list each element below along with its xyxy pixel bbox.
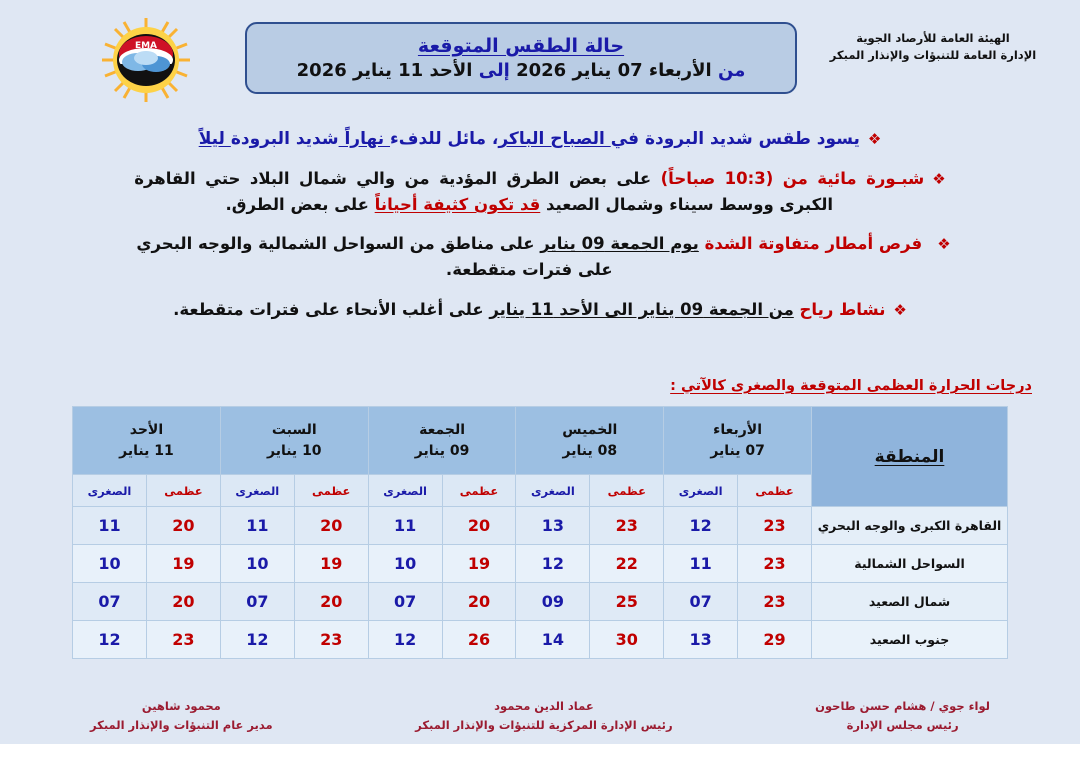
bullet-marker-icon: ❖ (932, 166, 945, 191)
bullet-2-segment-4: قد تكون كثيفة أحياناً (375, 195, 541, 214)
day-name: الأحد (74, 420, 219, 441)
table-subheader-max-3: عظمى (442, 475, 516, 507)
table-cell-max-r2-d5: 19 (146, 545, 220, 583)
bullet-3-segment-1: فرص أمطار متفاوتة الشدة (699, 234, 922, 253)
list-item: ❖ شبـورة مائية من (10:3 صباحاً) على بعض … (24, 166, 1056, 217)
ema-logo: EMA (86, 14, 206, 106)
signature-name: لواء جوي / هشام حسن طاحون (815, 697, 990, 715)
table-cell-min-r3-d3: 07 (368, 583, 442, 621)
table-subheader-min-3: الصغرى (368, 475, 442, 507)
table-cell-max-r4-d4: 23 (294, 621, 368, 659)
table-cell-min-r1-d5: 11 (73, 507, 147, 545)
table-cell-max-r4-d5: 23 (146, 621, 220, 659)
signature-block: عماد الدين محمود رئيس الإدارة المركزية ل… (415, 697, 672, 734)
bullet-2-segment-1: شبـورة مائية من (773, 169, 924, 188)
bullet-1-segment-5: شديد البرودة (231, 129, 339, 149)
bullet-2-segment-5: على بعض الطرق. (226, 195, 375, 214)
table-cell-min-r4-d2: 14 (516, 621, 590, 659)
day-name: الخميس (517, 420, 662, 441)
table-cell-max-r3-d2: 25 (590, 583, 664, 621)
table-cell-max-r4-d3: 26 (442, 621, 516, 659)
table-header-row-days: المنطقةالأربعاء07 ينايرالخميس08 ينايرالج… (73, 407, 1008, 475)
list-item: ❖ فرص أمطار متفاوتة الشدة يوم الجمعة 09 … (24, 231, 1056, 282)
bullet-text-2: شبـورة مائية من (10:3 صباحاً) على بعض ال… (134, 166, 924, 217)
table-cell-min-r3-d5: 07 (73, 583, 147, 621)
signature-name: عماد الدين محمود (415, 697, 672, 715)
bullet-3-segment-2: يوم الجمعة 09 يناير (540, 234, 699, 253)
table-cell-max-r2-d2: 22 (590, 545, 664, 583)
table-subheader-max-5: عظمى (146, 475, 220, 507)
signature-footer: لواء جوي / هشام حسن طاحون رئيس مجلس الإد… (0, 697, 1080, 734)
table-cell-region: السواحل الشمالية (812, 545, 1008, 583)
bullet-4-segment-1: نشاط رياح (794, 300, 886, 319)
bullet-marker-icon: ❖ (937, 231, 950, 256)
bullet-marker-icon: ❖ (868, 126, 881, 151)
table-cell-min-r3-d2: 09 (516, 583, 590, 621)
table-cell-max-r2-d4: 19 (294, 545, 368, 583)
bullet-1-segment-3: ، مائل للدفء (390, 129, 498, 149)
authority-name: الهيئة العامة للأرصاد الجوية (808, 30, 1058, 47)
table-cell-max-r3-d4: 20 (294, 583, 368, 621)
table-header-region: المنطقة (812, 407, 1008, 507)
table-header-day-5: الأحد11 يناير (73, 407, 221, 475)
table-cell-min-r2-d2: 12 (516, 545, 590, 583)
signature-role: رئيس مجلس الإدارة (815, 716, 990, 734)
table-cell-min-r2-d5: 10 (73, 545, 147, 583)
temperature-table-caption: درجات الحرارة العظمى المتوقعة والصغرى كا… (670, 378, 1032, 394)
bullet-1-segment-2: الصباح الباكر (498, 129, 610, 149)
bullet-4-segment-3: على أغلب الأنحاء على فترات متقطعة. (173, 300, 489, 319)
signature-block: محمود شاهين مدير عام التنبؤات والإنذار ا… (90, 697, 273, 734)
table-cell-min-r4-d5: 12 (73, 621, 147, 659)
table-cell-max-r3-d3: 20 (442, 583, 516, 621)
day-date: 09 يناير (370, 441, 515, 462)
table-subheader-min-2: الصغرى (516, 475, 590, 507)
bullet-2-segment-2: (10:3 صباحاً) (661, 169, 774, 188)
table-cell-region: شمال الصعيد (812, 583, 1008, 621)
bullet-1-segment-6: ليلاً (199, 129, 231, 149)
table-header-day-1: الأربعاء07 يناير (664, 407, 812, 475)
table-cell-region: القاهرة الكبرى والوجه البحري (812, 507, 1008, 545)
range-end: الأحد 11 يناير 2026 (297, 60, 473, 81)
table-subheader-max-2: عظمى (590, 475, 664, 507)
table-cell-min-r1-d4: 11 (220, 507, 294, 545)
signature-role: مدير عام التنبؤات والإنذار المبكر (90, 716, 273, 734)
bullet-text-1: يسود طقس شديد البرودة في الصباح الباكر، … (199, 126, 860, 152)
table-cell-min-r4-d1: 13 (664, 621, 738, 659)
table-cell-min-r4-d4: 12 (220, 621, 294, 659)
signature-role: رئيس الإدارة المركزية للتنبؤات والإنذار … (415, 716, 672, 734)
bullet-marker-icon: ❖ (893, 297, 906, 322)
table-row: جنوب الصعيد29133014261223122312 (73, 621, 1008, 659)
day-date: 08 يناير (517, 441, 662, 462)
table-head: المنطقةالأربعاء07 ينايرالخميس08 ينايرالج… (73, 407, 1008, 507)
range-mid: إلى (479, 60, 510, 81)
temperature-table: المنطقةالأربعاء07 ينايرالخميس08 ينايرالج… (72, 406, 1008, 659)
bullet-text-4: نشاط رياح من الجمعة 09 يناير الى الأحد 1… (173, 297, 885, 323)
bullet-1-segment-1: يسود طقس شديد البرودة في (611, 129, 860, 149)
table-cell-max-r4-d1: 29 (738, 621, 812, 659)
table-row: شمال الصعيد23072509200720072007 (73, 583, 1008, 621)
bullet-1-segment-4: نهاراً (339, 129, 390, 149)
authority-block: الهيئة العامة للأرصاد الجوية الإدارة الع… (808, 30, 1058, 63)
signature-name: محمود شاهين (90, 697, 273, 715)
forecast-date-range: من الأربعاء 07 يناير 2026 إلى الأحد 11 ي… (297, 60, 746, 81)
weather-forecast-page: EMA حالة الطقس المتوقعة من الأربعاء 07 ي… (0, 0, 1080, 762)
page-title: حالة الطقس المتوقعة (418, 35, 624, 57)
table-cell-min-r2-d3: 10 (368, 545, 442, 583)
table-body: القاهرة الكبرى والوجه البحري231223132011… (73, 507, 1008, 659)
table-cell-max-r1-d3: 20 (442, 507, 516, 545)
list-item: ❖ يسود طقس شديد البرودة في الصباح الباكر… (24, 126, 1056, 152)
table-cell-min-r3-d1: 07 (664, 583, 738, 621)
day-date: 07 يناير (665, 441, 810, 462)
table-cell-min-r2-d4: 10 (220, 545, 294, 583)
table-subheader-min-5: الصغرى (73, 475, 147, 507)
table-cell-min-r4-d3: 12 (368, 621, 442, 659)
range-prefix: من (718, 60, 745, 81)
day-name: الجمعة (370, 420, 515, 441)
table-subheader-max-4: عظمى (294, 475, 368, 507)
table-cell-max-r1-d1: 23 (738, 507, 812, 545)
table-cell-min-r2-d1: 11 (664, 545, 738, 583)
day-name: الأربعاء (665, 420, 810, 441)
table-cell-min-r1-d3: 11 (368, 507, 442, 545)
table-cell-max-r1-d2: 23 (590, 507, 664, 545)
list-item: ❖ نشاط رياح من الجمعة 09 يناير الى الأحد… (24, 297, 1056, 323)
table-cell-max-r2-d3: 19 (442, 545, 516, 583)
table-row: السواحل الشمالية23112212191019101910 (73, 545, 1008, 583)
table-cell-min-r1-d2: 13 (516, 507, 590, 545)
table-cell-min-r3-d4: 07 (220, 583, 294, 621)
table-subheader-min-1: الصغرى (664, 475, 738, 507)
table-cell-max-r4-d2: 30 (590, 621, 664, 659)
table-row: القاهرة الكبرى والوجه البحري231223132011… (73, 507, 1008, 545)
table-cell-min-r1-d1: 12 (664, 507, 738, 545)
table-header-day-4: السبت10 يناير (220, 407, 368, 475)
day-date: 11 يناير (74, 441, 219, 462)
table-cell-max-r2-d1: 23 (738, 545, 812, 583)
forecast-title-box: حالة الطقس المتوقعة من الأربعاء 07 يناير… (245, 22, 797, 94)
logo-text: EMA (135, 41, 157, 51)
range-start: الأربعاء 07 يناير 2026 (516, 60, 712, 81)
day-name: السبت (222, 420, 367, 441)
table-cell-max-r3-d1: 23 (738, 583, 812, 621)
page-header: EMA حالة الطقس المتوقعة من الأربعاء 07 ي… (0, 0, 1080, 118)
table-cell-max-r3-d5: 20 (146, 583, 220, 621)
table-cell-max-r1-d4: 20 (294, 507, 368, 545)
table-subheader-max-1: عظمى (738, 475, 812, 507)
temperature-table-wrapper: المنطقةالأربعاء07 ينايرالخميس08 ينايرالج… (72, 406, 1008, 659)
forecast-summary-list: ❖ يسود طقس شديد البرودة في الصباح الباكر… (0, 126, 1080, 336)
bullet-4-segment-2: من الجمعة 09 يناير الى الأحد 11 يناير (489, 300, 793, 319)
table-cell-max-r1-d5: 20 (146, 507, 220, 545)
signature-block: لواء جوي / هشام حسن طاحون رئيس مجلس الإد… (815, 697, 990, 734)
table-header-day-2: الخميس08 يناير (516, 407, 664, 475)
bullet-text-3: فرص أمطار متفاوتة الشدة يوم الجمعة 09 ين… (129, 231, 929, 282)
table-cell-region: جنوب الصعيد (812, 621, 1008, 659)
day-date: 10 يناير (222, 441, 367, 462)
table-subheader-min-4: الصغرى (220, 475, 294, 507)
page-bottom-strip (0, 744, 1080, 762)
table-header-day-3: الجمعة09 يناير (368, 407, 516, 475)
authority-department: الإدارة العامة للتنبؤات والإنذار المبكر (808, 47, 1058, 64)
